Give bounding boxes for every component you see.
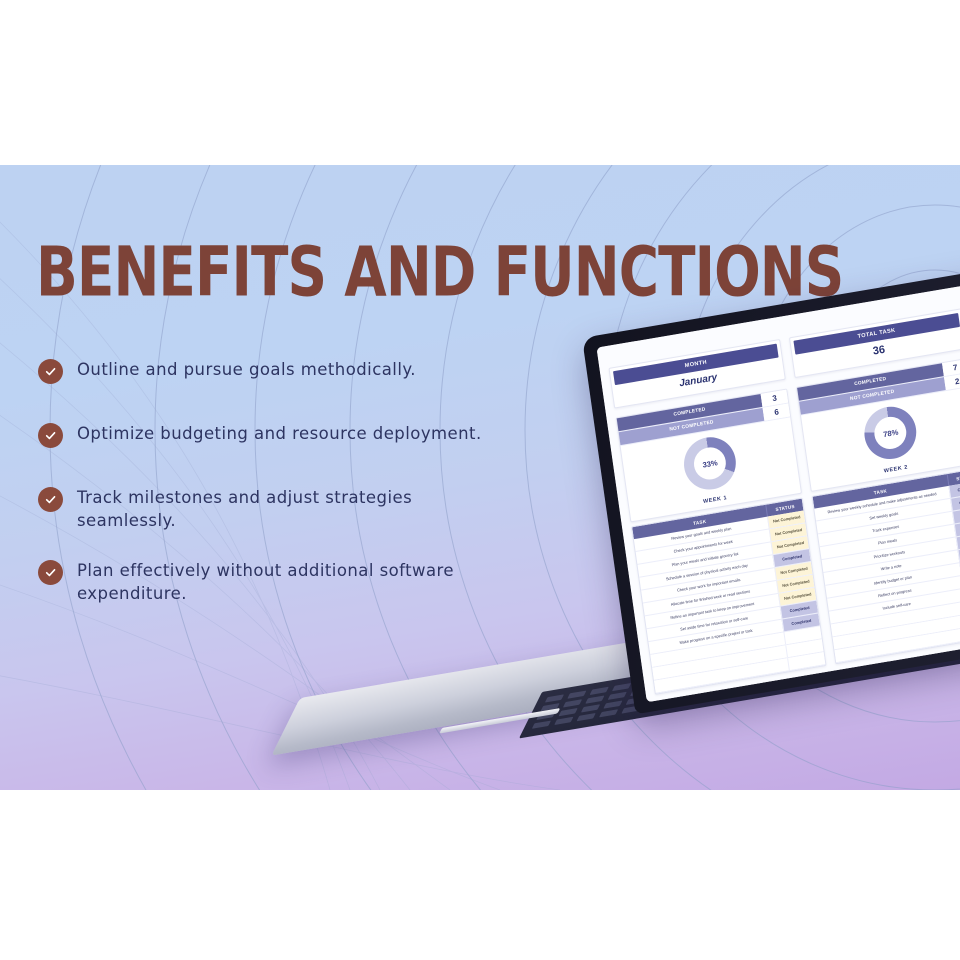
slide-canvas: BENEFITS AND FUNCTIONS Outline and pursu… (0, 0, 960, 960)
check-circle-icon (38, 560, 63, 585)
check-circle-icon (38, 359, 63, 384)
laptop-mockup: WEEKLY TO DO LIST MONTH January TOTAL TA… (292, 320, 960, 800)
task-table[interactable]: TASKSTATUSReview your weekly schedule an… (812, 467, 960, 664)
donut-percent-label: 78% (861, 403, 920, 463)
check-circle-icon (38, 423, 63, 448)
progress-donut-chart: 33% (681, 433, 740, 493)
page-title: BENEFITS AND FUNCTIONS (36, 236, 843, 309)
week-summary-card[interactable]: COMPLETED7NOT COMPLETED278%WEEK 2 (796, 358, 960, 492)
week-completed-value: 7 (942, 359, 960, 376)
donut-percent-label: 33% (681, 433, 740, 493)
task-table[interactable]: TASKSTATUSReview your goals and weekly p… (631, 497, 827, 694)
check-circle-icon (38, 487, 63, 512)
progress-donut-chart: 78% (861, 403, 920, 463)
